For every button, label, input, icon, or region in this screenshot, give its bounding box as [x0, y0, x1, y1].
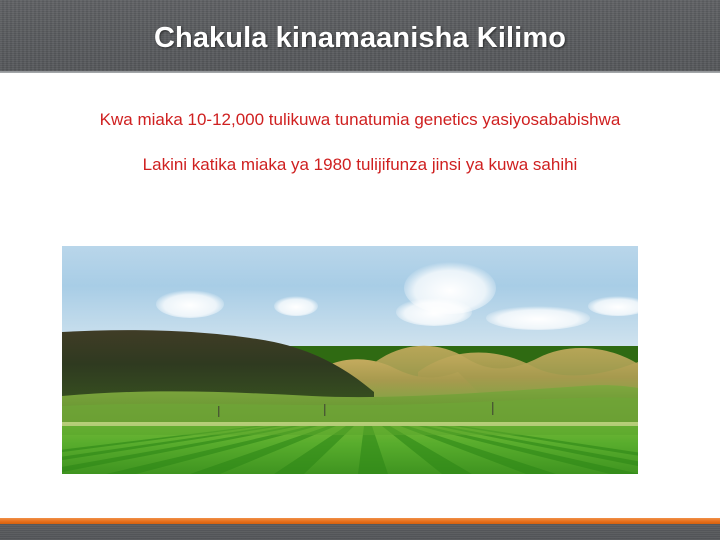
page-title: Chakula kinamaanisha Kilimo	[0, 21, 720, 55]
fence-post-center	[324, 404, 325, 416]
cloud-left	[156, 290, 224, 318]
fence-post-right	[492, 402, 493, 415]
cloud-right	[486, 306, 590, 330]
farm-field-photo	[62, 246, 638, 474]
farm-field-illustration	[62, 246, 638, 474]
cloud-tall-base	[396, 298, 472, 326]
body-paragraph-2: Lakini katika miaka ya 1980 tulijifunza …	[60, 153, 660, 176]
body-paragraph-1: Kwa miaka 10-12,000 tulikuwa tunatumia g…	[60, 108, 660, 131]
fence-post-left	[218, 406, 219, 417]
cloud-mid-left	[274, 296, 318, 316]
presentation-slide: Chakula kinamaanisha Kilimo Kwa miaka 10…	[0, 0, 720, 540]
slide-body-text: Kwa miaka 10-12,000 tulikuwa tunatumia g…	[60, 108, 660, 176]
crop-far-blend	[62, 426, 638, 435]
paragraph-spacer	[60, 131, 660, 153]
slide-footer-band	[0, 524, 720, 540]
